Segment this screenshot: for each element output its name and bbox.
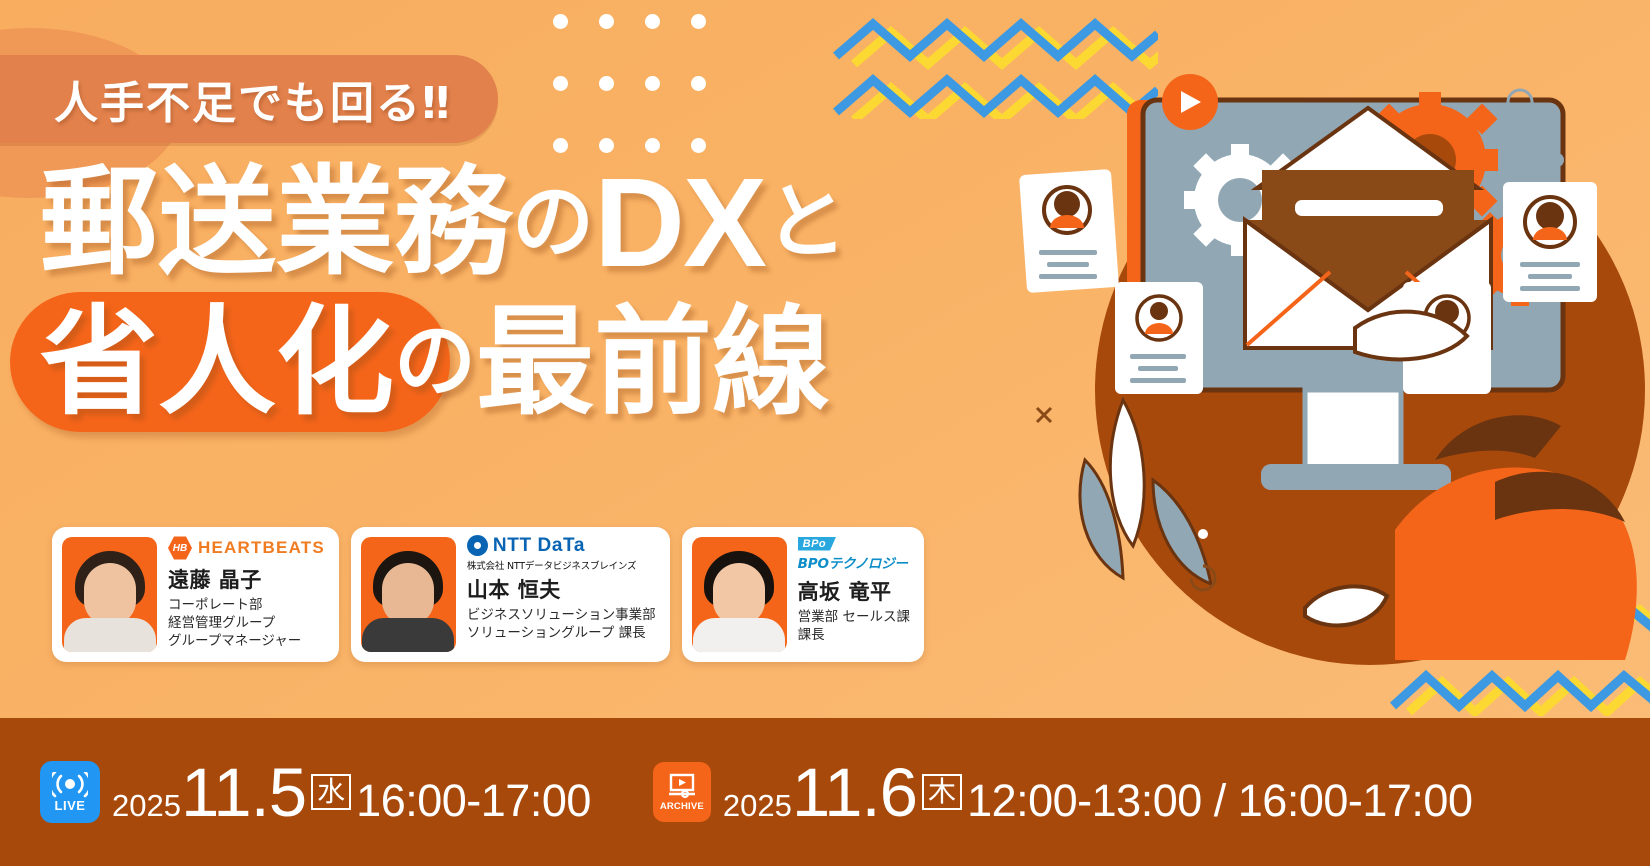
live-day: 11.5 <box>181 758 306 827</box>
speaker-card-3: BPo BPOテクノロジー 高坂 竜平 営業部 セールス課 課長 <box>682 527 924 662</box>
archive-time: 12:00-13:00 / 16:00-17:00 <box>967 775 1472 827</box>
heartbeats-wordmark: HEARTBEATS <box>198 538 325 558</box>
ntt-wordmark: NTT DaTa <box>493 535 585 557</box>
speaker-list: HB HEARTBEATS 遠藤 晶子 コーポレート部 経営管理グループ グルー… <box>52 527 924 662</box>
archive-badge: ARCHIVE <box>653 762 711 822</box>
schedule-bar: LIVE 2025 11.5 水 16:00-17:00 ARCHIVE <box>0 718 1650 866</box>
ntt-company-subtitle: 株式会社 NTTデータビジネスブレインズ <box>467 558 636 572</box>
archive-badge-label: ARCHIVE <box>660 802 704 812</box>
contact-card-1 <box>1019 169 1119 293</box>
speaker-role-line-3-2: 課長 <box>798 627 910 645</box>
archive-year: 2025 <box>723 788 792 824</box>
title-particle-to: と <box>765 180 847 267</box>
video-archive-icon <box>667 773 697 801</box>
title-particle-no-2: の <box>394 319 476 406</box>
webinar-banner: 人手不足でも回る‼ 郵送業務 の DX と 省人化 の 最前線 <box>0 0 1650 866</box>
speaker-role-line-3-1: 営業部 セールス課 <box>798 609 910 627</box>
speaker-role-line-1-1: コーポレート部 <box>168 597 325 615</box>
title-part-saizensen: 最前線 <box>476 300 830 425</box>
schedule-live: LIVE 2025 11.5 水 16:00-17:00 <box>40 758 591 827</box>
title-line-1: 郵送業務 の DX と <box>40 160 1000 286</box>
speaker-photo-2 <box>361 537 456 652</box>
speaker-name-2: 山本 恒夫 <box>467 574 656 604</box>
bpo-technology-logo: BPo BPOテクノロジー <box>798 536 910 572</box>
speaker-name-1: 遠藤 晶子 <box>168 564 325 594</box>
archive-dayofweek: 木 <box>922 774 962 810</box>
mail-dx-illustration <box>975 60 1650 710</box>
bpo-flag-icon: BPo <box>798 537 837 551</box>
live-year: 2025 <box>112 788 181 824</box>
heartbeats-mark-icon: HB <box>168 536 192 560</box>
ntt-data-logo: NTT DaTa 株式会社 NTTデータビジネスブレインズ <box>467 536 656 570</box>
page-title: 郵送業務 の DX と 省人化 の 最前線 <box>40 160 1000 425</box>
speaker-role-line-1-3: グループマネージャー <box>168 633 325 651</box>
ntt-circle-icon <box>467 535 488 556</box>
title-part-shoujinka: 省人化 <box>40 300 394 425</box>
contact-card-4 <box>1503 182 1597 302</box>
live-dayofweek: 水 <box>311 774 351 810</box>
speaker-card-1: HB HEARTBEATS 遠藤 晶子 コーポレート部 経営管理グループ グルー… <box>52 527 339 662</box>
bpo-wordmark: BPOテクノロジー <box>798 552 908 572</box>
speaker-role-line-2-1: ビジネスソリューション事業部 <box>467 607 656 625</box>
play-button-icon <box>1162 74 1218 130</box>
speaker-role-line-2-2: ソリューショングループ 課長 <box>467 625 656 643</box>
live-badge-label: LIVE <box>55 799 86 812</box>
speaker-photo-1 <box>62 537 157 652</box>
speaker-card-2: NTT DaTa 株式会社 NTTデータビジネスブレインズ 山本 恒夫 ビジネス… <box>351 527 670 662</box>
title-part-dx: DX <box>594 160 765 286</box>
live-time: 16:00-17:00 <box>356 775 591 827</box>
title-particle-no-1: の <box>512 180 594 267</box>
speaker-name-3: 高坂 竜平 <box>798 576 910 606</box>
title-line-2: 省人化 の 最前線 <box>40 300 1000 425</box>
speaker-photo-3 <box>692 537 787 652</box>
title-part-yuusou: 郵送業務 <box>40 160 512 285</box>
archive-day: 11.6 <box>792 758 917 827</box>
broadcast-icon <box>52 772 88 798</box>
speaker-role-line-1-2: 経営管理グループ <box>168 615 325 633</box>
tagline-text: 人手不足でも回る‼ <box>54 67 452 131</box>
live-badge: LIVE <box>40 761 100 823</box>
tagline-pill: 人手不足でも回る‼ <box>0 55 498 143</box>
contact-card-2 <box>1115 282 1203 394</box>
schedule-archive: ARCHIVE 2025 11.6 木 12:00-13:00 / 16:00-… <box>653 758 1473 827</box>
heartbeats-logo: HB HEARTBEATS <box>168 536 325 560</box>
